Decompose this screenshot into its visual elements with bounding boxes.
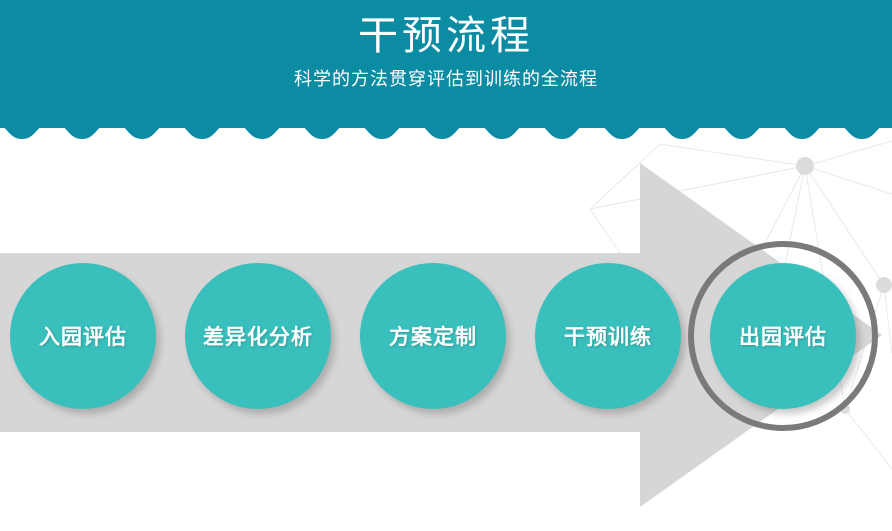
- step-circle[interactable]: 干预训练: [535, 263, 681, 409]
- step-label: 入园评估: [39, 321, 127, 351]
- step-circle[interactable]: 方案定制: [360, 263, 506, 409]
- header-text-block: 干预流程 科学的方法贯穿评估到训练的全流程: [0, 0, 892, 92]
- step-label: 出园评估: [739, 321, 827, 351]
- page-subtitle: 科学的方法贯穿评估到训练的全流程: [0, 60, 892, 92]
- process-step-3[interactable]: 方案定制: [360, 263, 506, 409]
- step-circle[interactable]: 差异化分析: [185, 263, 331, 409]
- page-title: 干预流程: [0, 0, 892, 60]
- step-label: 差异化分析: [203, 321, 313, 351]
- process-step-2[interactable]: 差异化分析: [185, 263, 331, 409]
- step-circle[interactable]: 出园评估: [710, 263, 856, 409]
- process-flow-infographic: 干预流程 科学的方法贯穿评估到训练的全流程: [0, 0, 892, 531]
- diagram-canvas: 入园评估 差异化分析 方案定制 干预训练 出园评估: [0, 139, 892, 531]
- scalloped-edge-icon: [0, 118, 892, 139]
- process-step-1[interactable]: 入园评估: [10, 263, 156, 409]
- step-label: 方案定制: [389, 321, 477, 351]
- process-step-4[interactable]: 干预训练: [535, 263, 681, 409]
- step-label: 干预训练: [564, 321, 652, 351]
- header-banner: 干预流程 科学的方法贯穿评估到训练的全流程: [0, 0, 892, 139]
- process-step-5[interactable]: 出园评估: [710, 263, 856, 409]
- step-circle[interactable]: 入园评估: [10, 263, 156, 409]
